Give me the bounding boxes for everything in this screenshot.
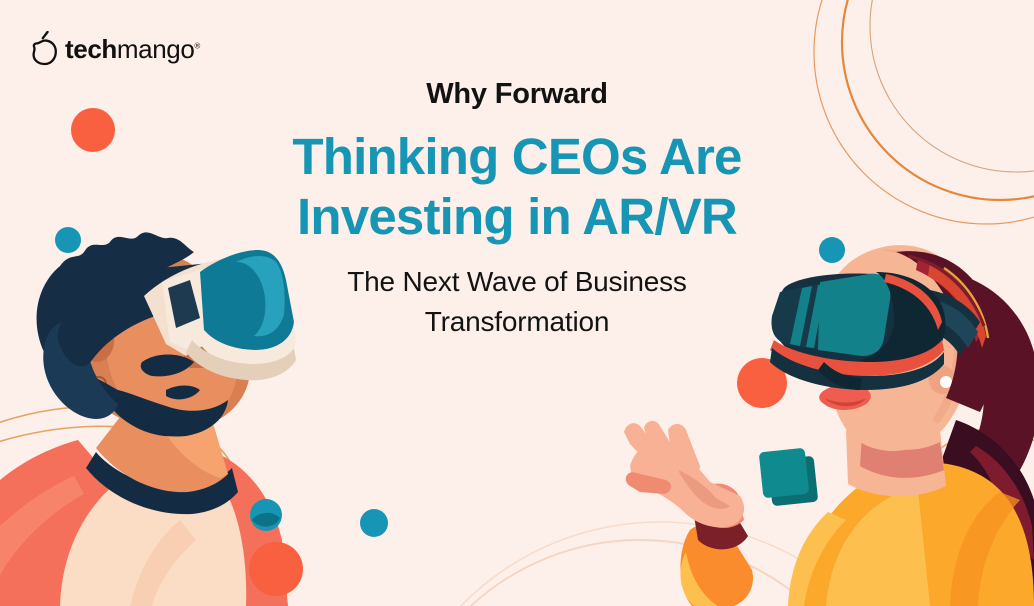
coral-dot-lower-center [249,542,303,596]
hero-subhead-line1: The Next Wave of Business [347,266,686,297]
logo-text-bold: tech [65,34,117,64]
mango-logo-icon [30,31,58,67]
hero-headline-line2: Investing in AR/VR [197,187,837,246]
poster-canvas: techmango® Why Forward Thinking CEOs Are… [0,0,1034,606]
teal-square-floating [759,448,819,507]
registered-mark: ® [194,41,200,50]
teal-dot-center [360,509,388,537]
techmango-logo[interactable]: techmango® [30,28,200,70]
hero-subhead-line2: Transformation [197,302,837,343]
logo-text-light: mango [117,34,195,64]
techmango-wordmark: techmango® [65,36,200,62]
hero-headline: Thinking CEOs Are Investing in AR/VR [197,127,837,245]
hero-text-block: Why Forward Thinking CEOs Are Investing … [197,78,837,343]
hero-subhead: The Next Wave of Business Transformation [197,262,837,343]
hero-headline-line1: Thinking CEOs Are [292,128,741,185]
hero-eyebrow: Why Forward [197,78,837,111]
